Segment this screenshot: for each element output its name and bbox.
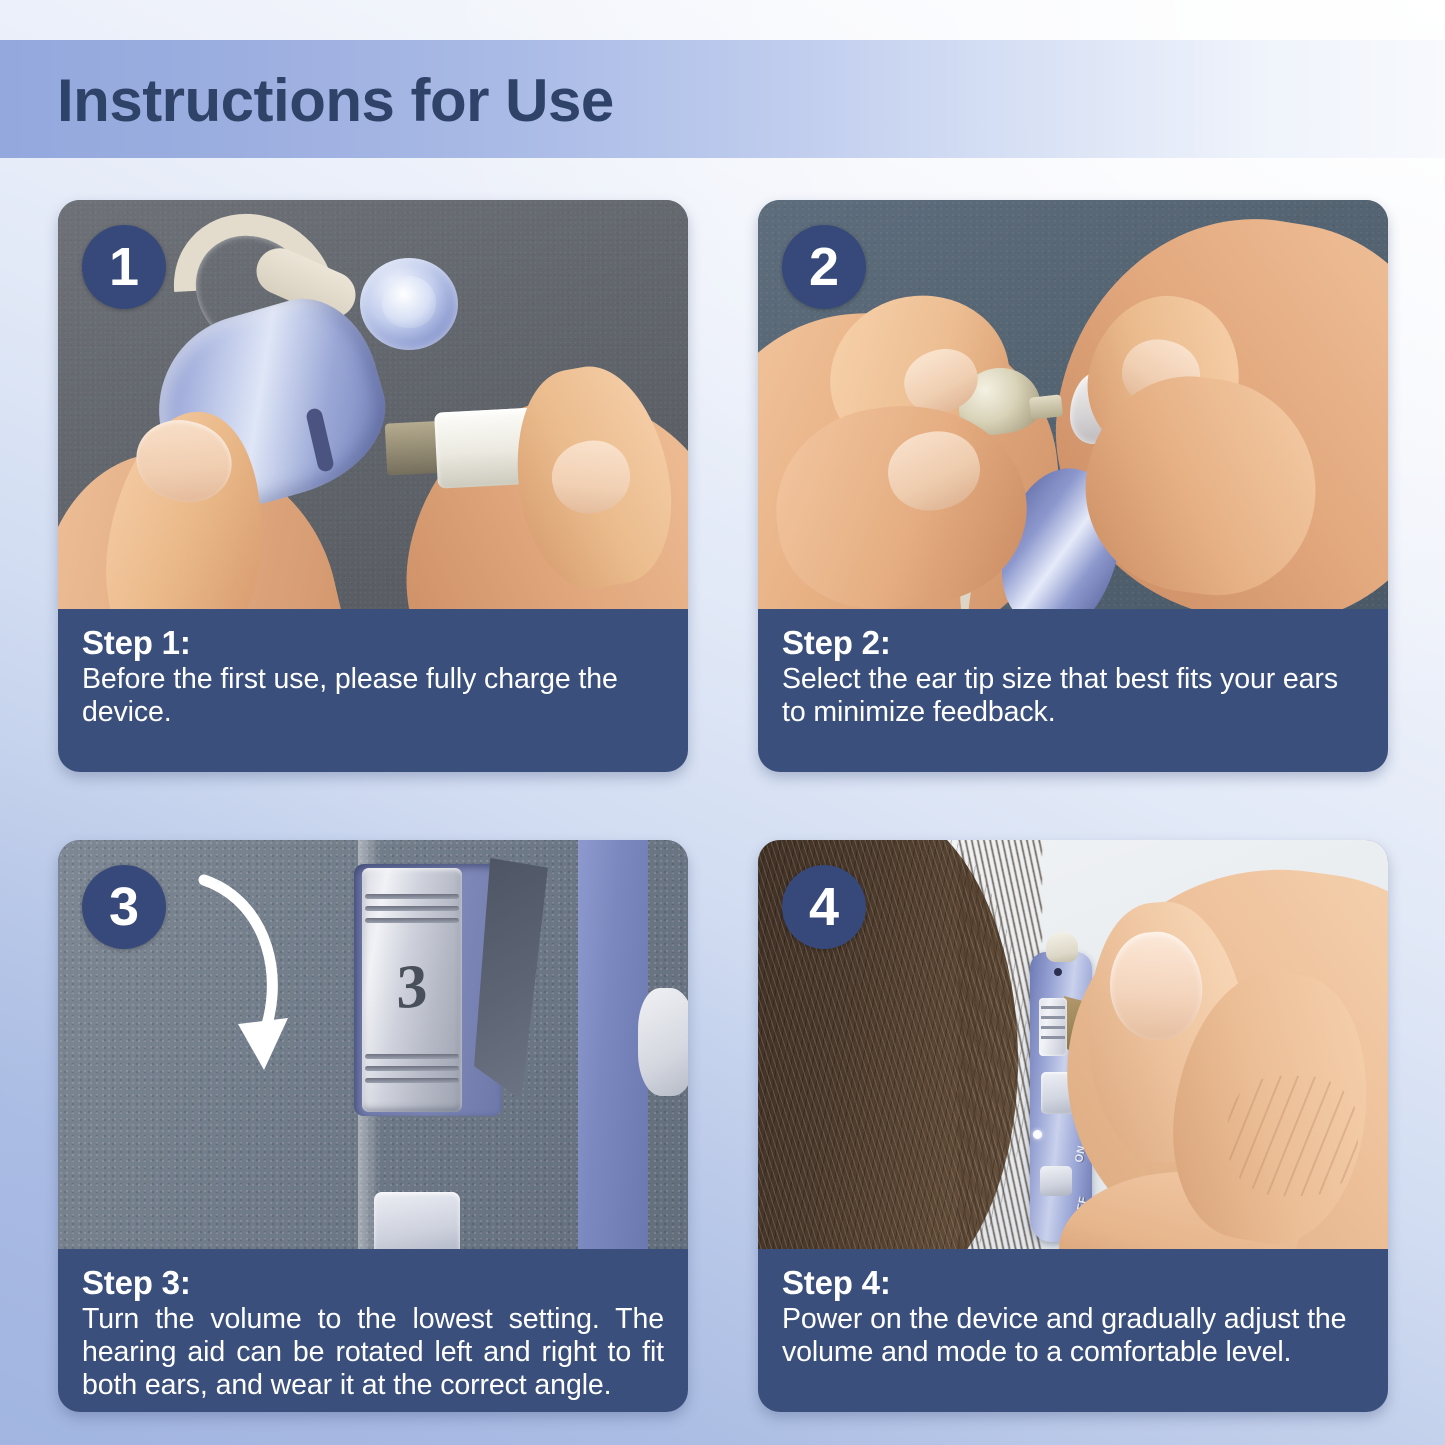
wheel-rib	[1041, 1026, 1065, 1029]
finger-creases	[1228, 1076, 1358, 1196]
volume-wheel-value: 3	[362, 949, 462, 1027]
microphone-port	[1054, 968, 1062, 976]
step-2-photo: 2	[758, 200, 1388, 609]
ear-hook	[638, 988, 688, 1096]
mode-button	[374, 1192, 460, 1249]
step-3-text: Turn the volume to the lowest setting. T…	[82, 1303, 664, 1402]
wheel-rib	[365, 918, 459, 923]
rotation-arrow-icon	[176, 868, 336, 1098]
step-1-photo: 1	[58, 200, 688, 609]
instructions-page: Instructions for Use 1	[0, 0, 1445, 1445]
step-badge-1: 1	[82, 225, 166, 309]
step-card-1: 1 Step 1: Before the first use, please f…	[58, 200, 688, 772]
step-4-photo: ON OFF 4	[758, 840, 1388, 1249]
step-3-label: Step 3:	[82, 1265, 664, 1302]
step-badge-4: 4	[782, 865, 866, 949]
wheel-rib	[365, 894, 459, 899]
step-badge-3: 3	[82, 865, 166, 949]
step-4-label: Step 4:	[782, 1265, 1364, 1302]
wheel-rib	[1041, 1016, 1065, 1019]
wheel-rib	[365, 1054, 459, 1059]
step-card-3: 3 3 Step 3: Turn the volume to the lowes…	[58, 840, 688, 1412]
step-1-text: Before the first use, please fully charg…	[82, 663, 664, 729]
step-2-caption: Step 2: Select the ear tip size that bes…	[758, 609, 1388, 772]
step-4-caption: Step 4: Power on the device and graduall…	[758, 1249, 1388, 1412]
step-badge-2: 2	[782, 225, 866, 309]
ear-tip-dome-icon	[360, 258, 458, 350]
ear-tip-stem	[1029, 394, 1063, 419]
wheel-rib	[365, 1066, 459, 1071]
wheel-rib	[1041, 1036, 1065, 1039]
step-3-photo: 3 3	[58, 840, 688, 1249]
step-card-2: 2 Step 2: Select the ear tip size that b…	[758, 200, 1388, 772]
step-card-4: ON OFF 4 Step 4: Power on the device and…	[758, 840, 1388, 1412]
step-2-label: Step 2:	[782, 625, 1364, 662]
wheel-rib	[365, 1078, 459, 1083]
wheel-rib	[365, 906, 459, 911]
status-led	[1033, 1130, 1042, 1139]
step-4-text: Power on the device and gradually adjust…	[782, 1303, 1364, 1369]
steps-grid: 1 Step 1: Before the first use, please f…	[58, 200, 1388, 1412]
step-3-caption: Step 3: Turn the volume to the lowest se…	[58, 1249, 688, 1412]
step-2-text: Select the ear tip size that best fits y…	[782, 663, 1364, 729]
page-title: Instructions for Use	[57, 57, 614, 143]
step-1-label: Step 1:	[82, 625, 664, 662]
ear-tip	[1046, 932, 1078, 962]
power-switch	[1040, 1166, 1072, 1196]
wheel-rib	[1041, 1006, 1065, 1009]
volume-wheel: 3	[362, 868, 462, 1112]
step-1-caption: Step 1: Before the first use, please ful…	[58, 609, 688, 772]
